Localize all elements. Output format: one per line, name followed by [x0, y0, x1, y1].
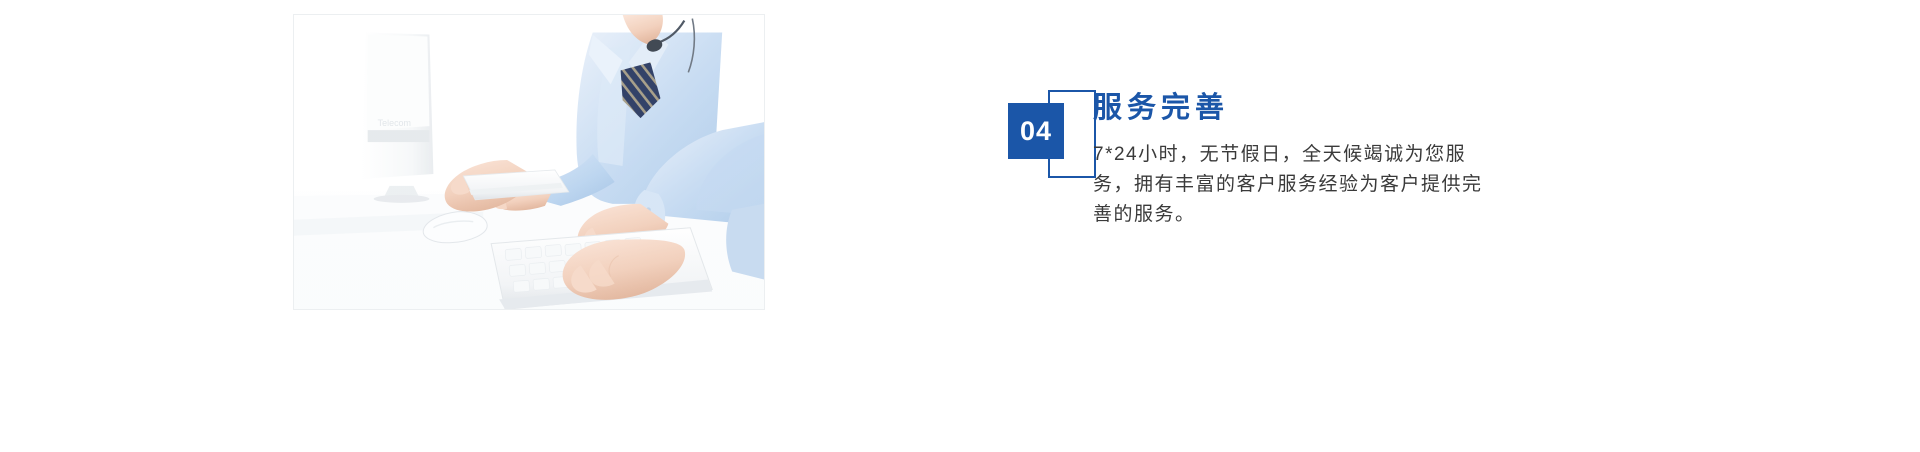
section-description: 7*24小时，无节假日，全天候竭诚为您服务，拥有丰富的客户服务经验为客户提供完善… — [1093, 140, 1485, 230]
section-title: 服务完善 — [1093, 90, 1513, 126]
section-content: 04 服务完善 7*24小时，无节假日，全天候竭诚为您服务，拥有丰富的客户服务经… — [1008, 90, 1528, 270]
badge-number-label: 04 — [1008, 103, 1064, 159]
photo-frame: Telecom — [293, 14, 765, 310]
section-number-badge: 04 — [1008, 90, 1098, 182]
call-center-photo: Telecom — [294, 15, 764, 309]
promo-banner: Telecom — [0, 0, 1920, 452]
section-text-column: 服务完善 7*24小时，无节假日，全天候竭诚为您服务，拥有丰富的客户服务经验为客… — [1093, 90, 1513, 230]
